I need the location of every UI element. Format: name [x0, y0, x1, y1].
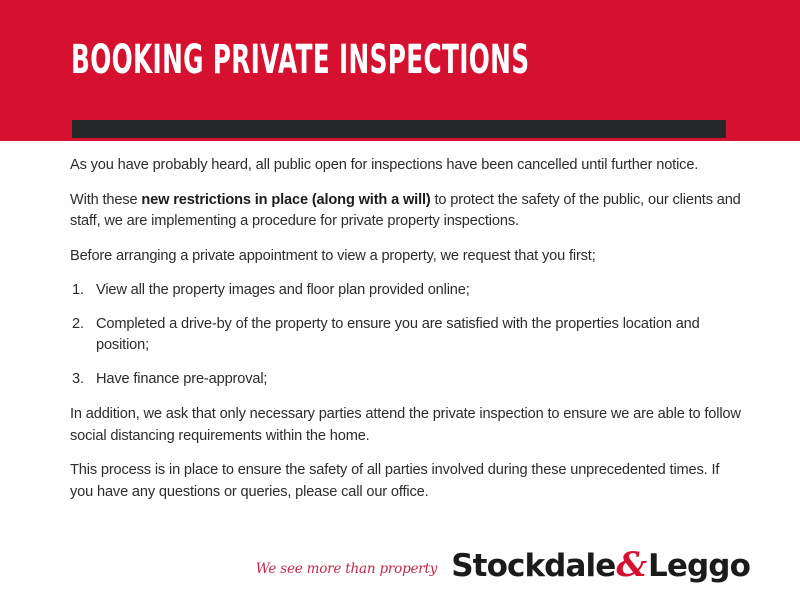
brand-lockup: We see more than property Stockdale & Le… — [256, 549, 750, 582]
list-item-number: 3. — [72, 369, 92, 391]
paragraph-social-distancing: In addition, we ask that only necessary … — [70, 404, 746, 447]
requirements-list: 1. View all the property images and floo… — [70, 280, 746, 390]
list-item-number: 2. — [72, 314, 92, 336]
footer: We see more than property Stockdale & Le… — [0, 538, 800, 588]
list-item-label: Completed a drive-by of the property to … — [96, 316, 700, 354]
document-body: As you have probably heard, all public o… — [0, 141, 800, 600]
list-item-number: 1. — [72, 280, 92, 302]
brand-logo: Stockdale & Leggo — [451, 549, 750, 582]
content-column: As you have probably heard, all public o… — [70, 155, 746, 516]
list-item-label: View all the property images and floor p… — [96, 282, 470, 298]
list-item-label: Have finance pre-approval; — [96, 371, 267, 387]
ampersand-icon: & — [615, 549, 648, 581]
requirements-list-block: 1. View all the property images and floo… — [70, 280, 746, 390]
paragraph-intro: As you have probably heard, all public o… — [70, 155, 746, 177]
list-item: 1. View all the property images and floo… — [70, 280, 746, 302]
list-item: 3. Have finance pre-approval; — [70, 369, 746, 391]
header-divider-bar — [72, 120, 726, 138]
paragraph-before-list: Before arranging a private appointment t… — [70, 246, 746, 268]
brand-tagline: We see more than property — [256, 561, 437, 582]
page-title: BOOKING PRIVATE INSPECTIONS — [71, 38, 529, 82]
paragraph-restrictions: With these new restrictions in place (al… — [70, 190, 746, 233]
paragraph-closing: This process is in place to ensure the s… — [70, 460, 746, 503]
paragraph-restrictions-lead: With these — [70, 192, 141, 208]
brand-name-stockdale: Stockdale — [451, 550, 615, 582]
brand-name-leggo: Leggo — [648, 550, 750, 582]
list-item: 2. Completed a drive-by of the property … — [70, 314, 746, 357]
header-banner: BOOKING PRIVATE INSPECTIONS — [0, 0, 800, 141]
paragraph-restrictions-emphasis: new restrictions in place (along with a … — [141, 192, 430, 208]
